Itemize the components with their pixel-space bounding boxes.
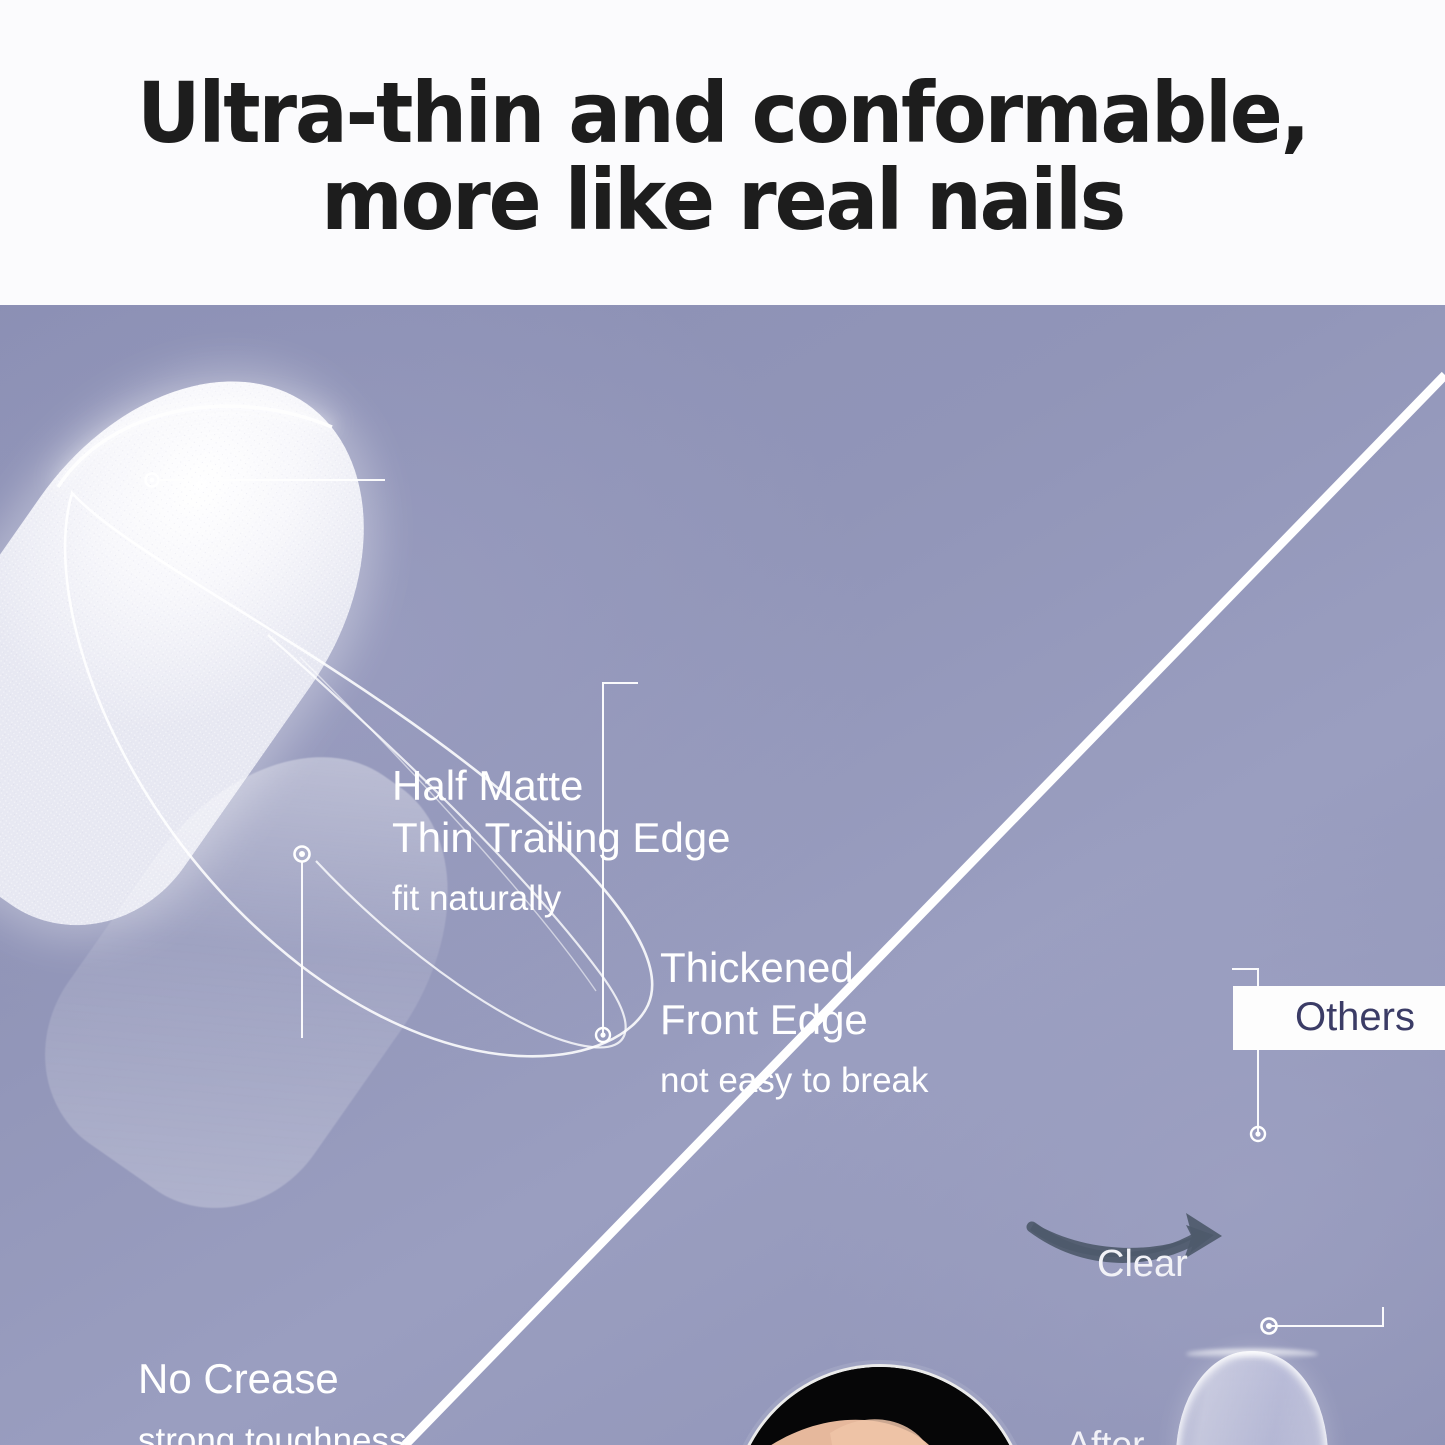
comparison-panel: Half Matte Thin Trailing Edge fit natura… (0, 305, 1445, 1445)
pinch-test-photo (731, 1364, 1029, 1445)
leader-dot-abs (1262, 1319, 1277, 1334)
leader-dot-core-clear (1255, 1131, 1260, 1136)
annotation-half-matte-sub: fit naturally (392, 877, 731, 921)
infographic-root: Ultra-thin and conformable, more like re… (0, 0, 1445, 1445)
annotation-thickened-front-edge: Thickened Front Edge not easy to break (660, 942, 929, 1103)
competitor-badge-others: Others (1233, 986, 1445, 1050)
annotation-half-matte-title: Half Matte Thin Trailing Edge (392, 760, 731, 863)
page-title-line-2: more like real nails (321, 157, 1124, 244)
leader-dot-core-abs (1266, 1323, 1272, 1329)
leader-dot-clear (1251, 1127, 1265, 1141)
annotation-thickened-title: Thickened Front Edge (660, 942, 929, 1045)
annotation-half-matte: Half Matte Thin Trailing Edge fit natura… (392, 760, 731, 921)
annotation-no-crease-title: No Crease (138, 1353, 407, 1405)
annotation-no-crease-sub: strong toughness (138, 1419, 407, 1445)
page-title-line-1: Ultra-thin and conformable, (137, 70, 1308, 157)
bend-arrow-head (1184, 1213, 1222, 1259)
header-banner: Ultra-thin and conformable, more like re… (0, 0, 1445, 305)
nail-top-sheen (1186, 1349, 1318, 1359)
label-clear: Clear (1097, 1243, 1188, 1286)
annotation-no-crease: No Crease strong toughness (138, 1353, 407, 1445)
modelones-nail-illustration (0, 305, 760, 1125)
competitor-abs-nail (1176, 1351, 1328, 1445)
label-after-bend: After Bend (1058, 1422, 1144, 1445)
annotation-thickened-sub: not easy to break (660, 1059, 929, 1103)
leader-line-abs (1269, 1307, 1383, 1326)
